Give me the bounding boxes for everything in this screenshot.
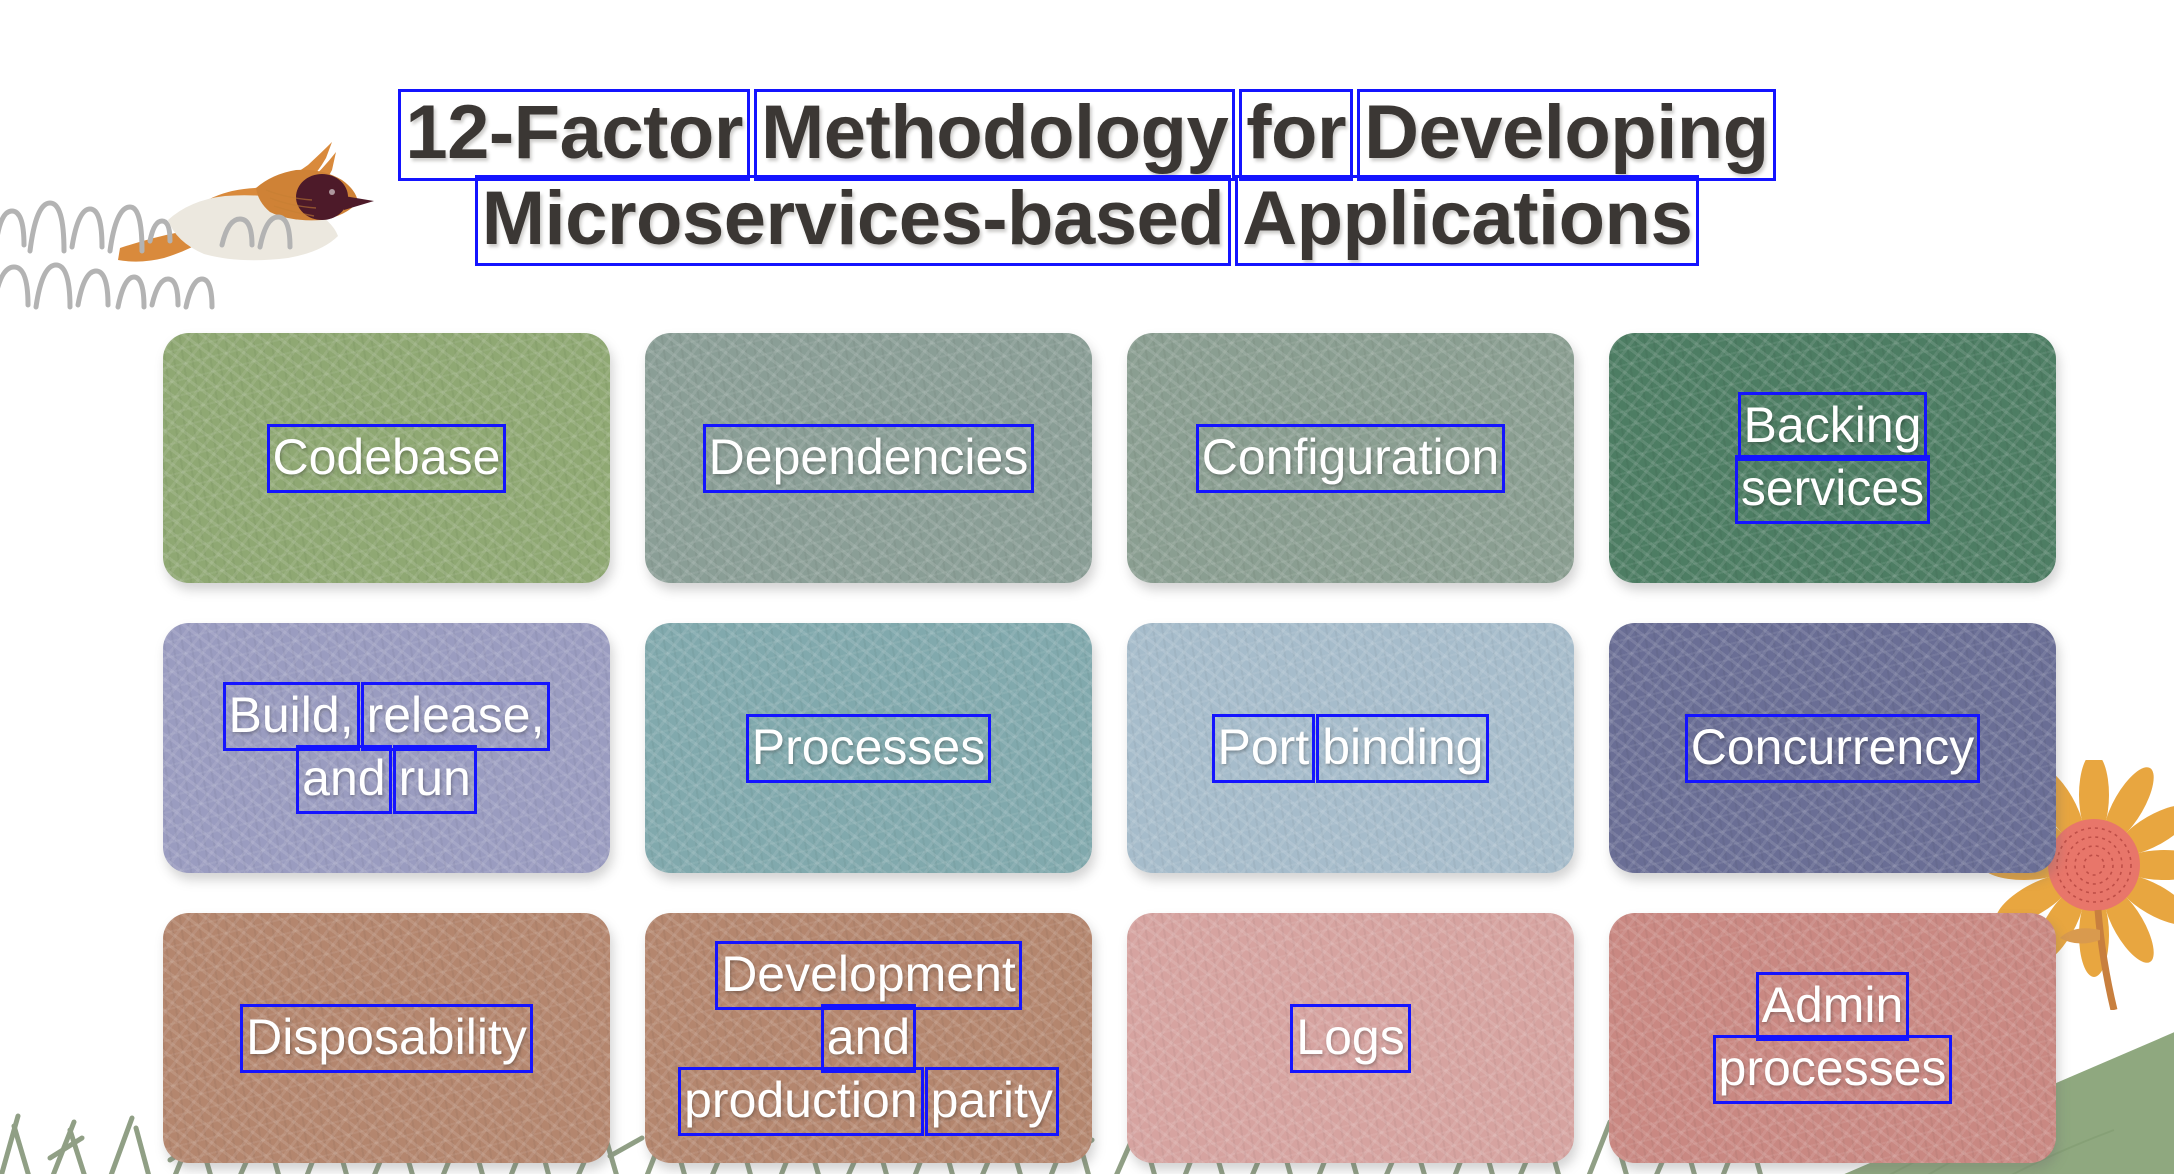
factor-card-label-line: processes <box>1716 1038 1950 1101</box>
factor-card-label-line: andrun <box>226 748 548 811</box>
factor-card-label-word: Disposability <box>243 1007 530 1070</box>
page-title: 12-FactorMethodologyforDeveloping Micros… <box>0 92 2174 263</box>
factor-card-label-word: Port <box>1215 717 1313 780</box>
factor-card-label: Dependencies <box>706 427 1032 490</box>
title-word: Developing <box>1360 92 1773 178</box>
factor-card-label-word: Build, <box>226 685 357 748</box>
factor-card-label: Processes <box>749 717 988 780</box>
factor-card-label-word: binding <box>1319 717 1486 780</box>
factor-card-processes[interactable]: Processes <box>645 623 1092 873</box>
factor-card-label-word: Concurrency <box>1688 717 1977 780</box>
factor-card-label: Portbinding <box>1215 717 1487 780</box>
factor-card-label-word: processes <box>1716 1038 1950 1101</box>
factor-card-label-word: Codebase <box>270 427 504 490</box>
factor-card-logs[interactable]: Logs <box>1127 913 1574 1163</box>
factor-card-label-line: Processes <box>749 717 988 780</box>
factor-card-label-word: parity <box>928 1070 1056 1133</box>
factor-card-label-line: Portbinding <box>1215 717 1487 780</box>
factor-card-label: Disposability <box>243 1007 530 1070</box>
factor-card-label-word: release, <box>364 685 548 748</box>
factor-card-dependencies[interactable]: Dependencies <box>645 333 1092 583</box>
title-word: Methodology <box>757 92 1232 178</box>
factor-card-concurrency[interactable]: Concurrency <box>1609 623 2056 873</box>
factor-card-label-line: Configuration <box>1199 427 1502 490</box>
factor-card-label: Backingservices <box>1738 395 1927 521</box>
factor-card-port-binding[interactable]: Portbinding <box>1127 623 1574 873</box>
factor-card-label-word: Logs <box>1293 1007 1407 1070</box>
factor-card-label-line: Logs <box>1293 1007 1407 1070</box>
factor-card-build-release-run[interactable]: Build,release,andrun <box>163 623 610 873</box>
factor-card-disposability[interactable]: Disposability <box>163 913 610 1163</box>
factor-card-label-word: Backing <box>1741 395 1925 458</box>
factor-card-label: Codebase <box>270 427 504 490</box>
factor-card-label-line: Backing <box>1738 395 1927 458</box>
factor-card-label-word: and <box>299 748 388 811</box>
factor-card-label-line: services <box>1738 458 1927 521</box>
factor-card-label-word: Development <box>718 944 1019 1007</box>
factor-card-label-line: Admin <box>1716 975 1950 1038</box>
factor-card-label-word: and <box>824 1007 913 1070</box>
title-word: for <box>1242 92 1350 178</box>
factor-card-backing-services[interactable]: Backingservices <box>1609 333 2056 583</box>
factor-card-label-word: Admin <box>1759 975 1907 1038</box>
factor-card-label-word: Processes <box>749 717 988 780</box>
factor-card-label-line: Development <box>681 944 1056 1007</box>
title-word: Applications <box>1238 178 1696 264</box>
factor-card-label-line: Disposability <box>243 1007 530 1070</box>
factor-card-label: Build,release,andrun <box>226 685 548 811</box>
factor-card-label-word: run <box>396 748 474 811</box>
factor-card-label-word: services <box>1738 458 1927 521</box>
title-word: Microservices-based <box>478 178 1228 264</box>
factor-card-label: Logs <box>1293 1007 1407 1070</box>
factor-card-admin-processes[interactable]: Adminprocesses <box>1609 913 2056 1163</box>
factor-card-label-line: Build,release, <box>226 685 548 748</box>
factor-card-label-word: Configuration <box>1199 427 1502 490</box>
factor-card-dev-prod-parity[interactable]: Developmentandproductionparity <box>645 913 1092 1163</box>
factor-card-label: Concurrency <box>1688 717 1977 780</box>
title-line-1: 12-FactorMethodologyforDeveloping <box>0 92 2174 178</box>
slide-canvas: 12-FactorMethodologyforDeveloping Micros… <box>0 0 2174 1174</box>
factor-card-label-line: Codebase <box>270 427 504 490</box>
title-word: 12-Factor <box>401 92 747 178</box>
factor-card-label: Configuration <box>1199 427 1502 490</box>
factor-card-label-line: productionparity <box>681 1070 1056 1133</box>
factor-card-label-line: Dependencies <box>706 427 1032 490</box>
factor-card-label: Adminprocesses <box>1716 975 1950 1101</box>
factor-card-codebase[interactable]: Codebase <box>163 333 610 583</box>
twelve-factor-card-grid: CodebaseDependenciesConfigurationBacking… <box>163 333 2053 1163</box>
factor-card-label-line: Concurrency <box>1688 717 1977 780</box>
factor-card-label-word: production <box>681 1070 921 1133</box>
factor-card-configuration[interactable]: Configuration <box>1127 333 1574 583</box>
factor-card-label-word: Dependencies <box>706 427 1032 490</box>
factor-card-label-line: and <box>681 1007 1056 1070</box>
factor-card-label: Developmentandproductionparity <box>681 944 1056 1133</box>
title-line-2: Microservices-basedApplications <box>0 178 2174 264</box>
